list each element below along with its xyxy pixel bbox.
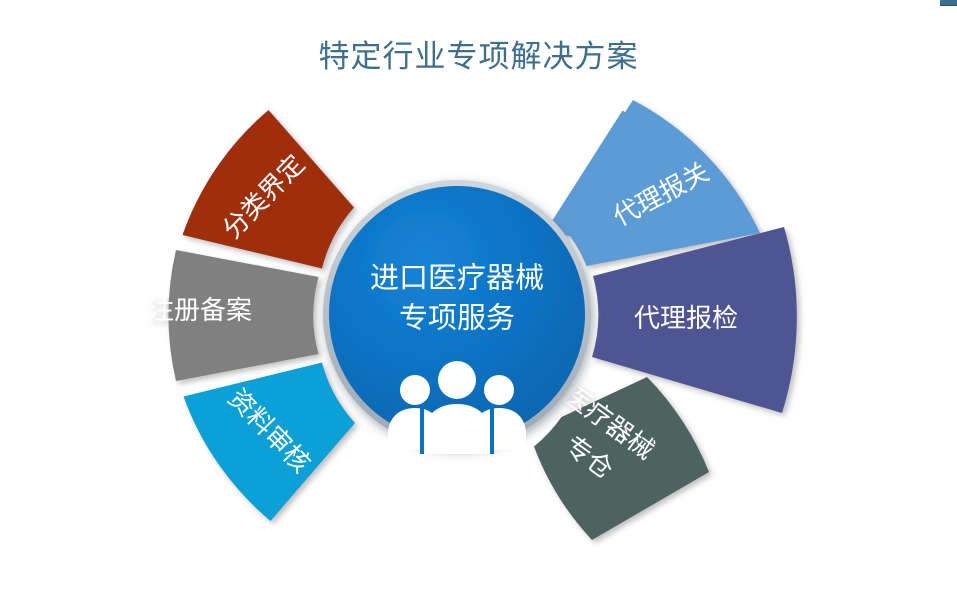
petal-ziliao-shenhe[interactable]: 资料审核 [184,363,356,522]
radial-petal-diagram: 分类界定 注册备案 资料审核 代理报关 代理报检 [0,0,957,603]
petal-fenlei-jieding[interactable]: 分类界定 [183,110,355,269]
petal-yiliao-qixie-zhuancang[interactable]: 医疗器械 专仓 [534,377,709,540]
petal-label-zhuce-bei-an: 注册备案 [148,295,252,325]
slide-canvas: 特定行业专项解决方案 分类界定 [0,0,957,603]
petal-label-daili-baojian: 代理报检 [634,303,738,333]
center-label-line2: 专项服务 [399,302,515,335]
center-label-line1: 进口医疗器械 [370,262,544,295]
petal-daili-baoguan[interactable]: 代理报关 [545,100,760,266]
petal-zhuce-bei-an[interactable]: 注册备案 [148,250,319,381]
